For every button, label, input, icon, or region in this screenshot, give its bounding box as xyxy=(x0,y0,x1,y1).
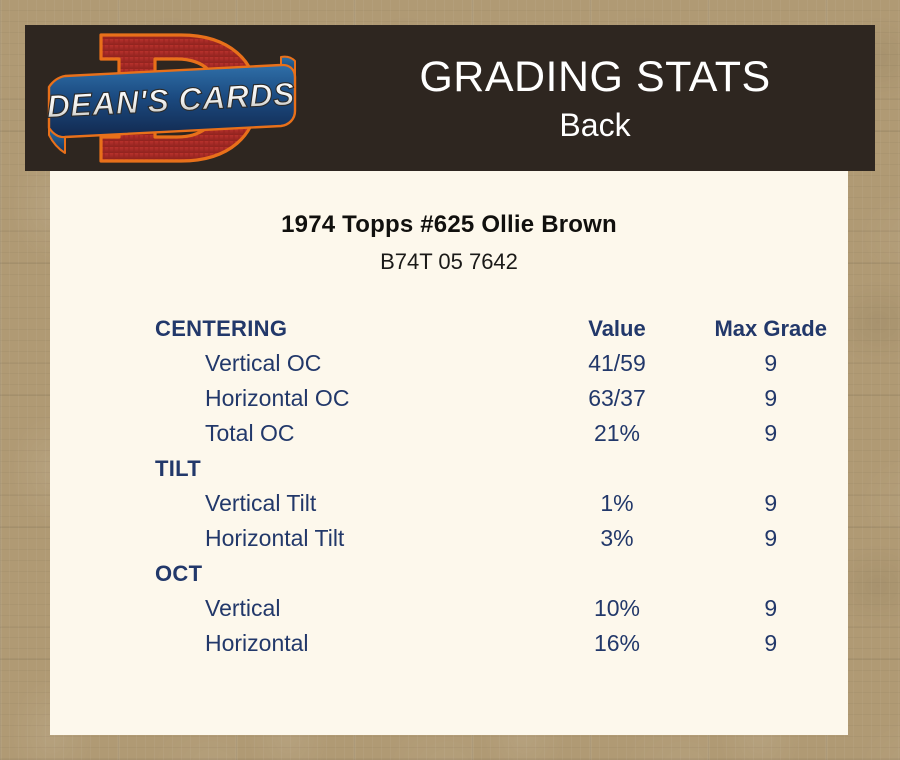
column-header-value: Value xyxy=(541,311,694,346)
row-value-total-oc: 21% xyxy=(541,416,694,451)
content-panel: 1974 Topps #625 Ollie Brown B74T 05 7642… xyxy=(50,171,848,735)
table-row: Total OC 21% 9 xyxy=(50,416,848,451)
row-label-horizontal-tilt: Horizontal Tilt xyxy=(50,521,541,556)
row-label-vertical-tilt: Vertical Tilt xyxy=(50,486,541,521)
row-label-oct-vertical: Vertical xyxy=(50,591,541,626)
table-header-row: CENTERING Value Max Grade xyxy=(50,311,848,346)
row-grade-total-oc: 9 xyxy=(693,416,848,451)
row-grade-horizontal-oc: 9 xyxy=(693,381,848,416)
table-row: Horizontal Tilt 3% 9 xyxy=(50,521,848,556)
row-label-oct-horizontal: Horizontal xyxy=(50,626,541,661)
section-row-oct: OCT xyxy=(50,556,848,591)
table-row: Vertical OC 41/59 9 xyxy=(50,346,848,381)
row-grade-vertical-oc: 9 xyxy=(693,346,848,381)
row-value-horizontal-oc: 63/37 xyxy=(541,381,694,416)
section-header-oct: OCT xyxy=(50,556,541,591)
card-code: B74T 05 7642 xyxy=(50,249,848,275)
table-row: Vertical 10% 9 xyxy=(50,591,848,626)
section-row-tilt: TILT xyxy=(50,451,848,486)
deans-cards-logo[interactable]: DEAN'S CARDS xyxy=(43,27,303,169)
section-header-tilt: TILT xyxy=(50,451,541,486)
table-row: Vertical Tilt 1% 9 xyxy=(50,486,848,521)
card-title: 1974 Topps #625 Ollie Brown xyxy=(50,211,848,239)
column-header-max-grade: Max Grade xyxy=(693,311,848,346)
row-grade-oct-vertical: 9 xyxy=(693,591,848,626)
row-value-vertical-tilt: 1% xyxy=(541,486,694,521)
row-grade-horizontal-tilt: 9 xyxy=(693,521,848,556)
section-header-centering: CENTERING xyxy=(50,311,541,346)
grading-stats-table: CENTERING Value Max Grade Vertical OC 41… xyxy=(50,311,848,661)
row-grade-vertical-tilt: 9 xyxy=(693,486,848,521)
header-bar: DEAN'S CARDS GRADING STATS Back xyxy=(25,25,875,171)
page-subtitle: Back xyxy=(559,105,630,145)
row-label-vertical-oc: Vertical OC xyxy=(50,346,541,381)
page-title: GRADING STATS xyxy=(419,51,770,103)
row-value-oct-horizontal: 16% xyxy=(541,626,694,661)
row-value-horizontal-tilt: 3% xyxy=(541,521,694,556)
table-row: Horizontal OC 63/37 9 xyxy=(50,381,848,416)
table-row: Horizontal 16% 9 xyxy=(50,626,848,661)
row-grade-oct-horizontal: 9 xyxy=(693,626,848,661)
header-title-block: GRADING STATS Back xyxy=(315,25,875,171)
row-label-horizontal-oc: Horizontal OC xyxy=(50,381,541,416)
row-value-oct-vertical: 10% xyxy=(541,591,694,626)
row-label-total-oc: Total OC xyxy=(50,416,541,451)
row-value-vertical-oc: 41/59 xyxy=(541,346,694,381)
